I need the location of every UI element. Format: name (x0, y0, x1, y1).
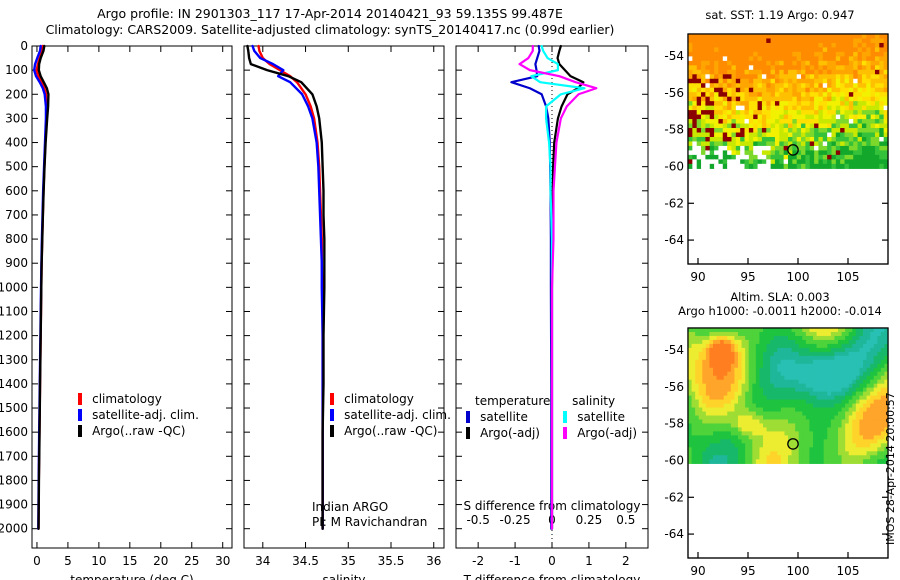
svg-text:0: 0 (33, 554, 41, 568)
svg-text:T difference from climatology: T difference from climatology (463, 573, 641, 580)
legend-item-climatology: climatology (330, 390, 451, 406)
svg-text:-58: -58 (664, 123, 684, 137)
svg-text:1000: 1000 (0, 280, 28, 294)
svg-text:600: 600 (5, 184, 28, 198)
svg-text:95: 95 (740, 564, 755, 578)
svg-text:1900: 1900 (0, 498, 28, 512)
svg-text:-56: -56 (664, 86, 684, 100)
sla-map-title: Altim. SLA: 0.003 Argo h1000: -0.0011 h2… (660, 290, 900, 318)
sla-map[interactable]: -54-56-58-60-62-649095100105 (660, 318, 900, 580)
legend-swatch-climatology (78, 393, 82, 405)
svg-text:1300: 1300 (0, 353, 28, 367)
svg-text:-62: -62 (664, 196, 684, 210)
svg-text:1100: 1100 (0, 304, 28, 318)
svg-text:1500: 1500 (0, 401, 28, 415)
temperature-legend: climatology satellite-adj. clim. Argo(..… (78, 390, 199, 438)
annotation-line2: PI: M Ravichandran (312, 515, 427, 530)
salinity-annotation: Indian ARGO PI: M Ravichandran (312, 500, 427, 530)
svg-text:-60: -60 (664, 159, 684, 173)
svg-text:-2: -2 (472, 554, 484, 568)
sst-map-title: sat. SST: 1.19 Argo: 0.947 (660, 8, 900, 22)
svg-text:1200: 1200 (0, 329, 28, 343)
legend-label-satellite-adj: satellite-adj. clim. (344, 408, 451, 422)
annotation-line1: Indian ARGO (312, 500, 427, 515)
svg-text:-64: -64 (664, 527, 684, 541)
svg-text:-62: -62 (664, 490, 684, 504)
svg-text:5: 5 (64, 554, 72, 568)
svg-text:-60: -60 (664, 453, 684, 467)
svg-text:1400: 1400 (0, 377, 28, 391)
svg-text:100: 100 (5, 63, 28, 77)
svg-text:10: 10 (91, 554, 106, 568)
svg-text:500: 500 (5, 160, 28, 174)
svg-text:-64: -64 (664, 233, 684, 247)
legend-label-satellite-adj: satellite-adj. clim. (92, 408, 199, 422)
svg-text:36: 36 (426, 554, 441, 568)
legend-label-temperature-satellite: satellite (480, 410, 528, 424)
svg-text:20: 20 (153, 554, 168, 568)
svg-text:34: 34 (255, 554, 270, 568)
svg-text:-0.5: -0.5 (466, 513, 489, 527)
legend-swatch-satellite-adj (330, 409, 334, 421)
legend-label-argo-raw: Argo(..raw -QC) (344, 424, 437, 438)
svg-text:90: 90 (690, 564, 705, 578)
svg-text:100: 100 (787, 270, 810, 284)
svg-text:200: 200 (5, 87, 28, 101)
legend-label-climatology: climatology (344, 392, 414, 406)
svg-text:800: 800 (5, 232, 28, 246)
legend-swatch-temperature-satellite (466, 411, 470, 423)
svg-text:15: 15 (122, 554, 137, 568)
legend-swatch-argo-raw (330, 425, 334, 437)
legend-label-temperature-argo: Argo(-adj) (480, 426, 540, 440)
svg-text:0.5: 0.5 (616, 513, 635, 527)
svg-text:300: 300 (5, 111, 28, 125)
svg-text:25: 25 (184, 554, 199, 568)
legend-label-salinity-satellite: satellite (577, 410, 625, 424)
legend-item-argo-raw: Argo(..raw -QC) (330, 422, 451, 438)
svg-text:35: 35 (341, 554, 356, 568)
svg-text:900: 900 (5, 256, 28, 270)
svg-text:0: 0 (20, 39, 28, 53)
svg-text:-1: -1 (509, 554, 521, 568)
svg-text:30: 30 (215, 554, 230, 568)
legend-item-satellite-adj: satellite-adj. clim. (78, 406, 199, 422)
difference-legend: temperature satellite Argo(-adj) salinit… (466, 392, 655, 440)
sla-map-title-line1: Altim. SLA: 0.003 (660, 290, 900, 304)
legend-swatch-salinity-argo (563, 427, 567, 439)
legend-item-satellite-adj: satellite-adj. clim. (330, 406, 451, 422)
legend-item-argo-raw: Argo(..raw -QC) (78, 422, 199, 438)
svg-text:0: 0 (548, 554, 556, 568)
legend-label-climatology: climatology (92, 392, 162, 406)
legend-swatch-argo-raw (78, 425, 82, 437)
svg-text:95: 95 (740, 270, 755, 284)
svg-text:-56: -56 (664, 380, 684, 394)
sla-map-title-line2: Argo h1000: -0.0011 h2000: -0.014 (660, 304, 900, 318)
svg-text:700: 700 (5, 208, 28, 222)
svg-text:1700: 1700 (0, 449, 28, 463)
svg-text:35.5: 35.5 (378, 554, 405, 568)
svg-text:1600: 1600 (0, 425, 28, 439)
salinity-panel[interactable]: 3434.53535.536salinity (240, 34, 456, 580)
svg-text:105: 105 (837, 270, 860, 284)
svg-text:temperature (deg C): temperature (deg C) (70, 573, 193, 580)
legend-swatch-salinity-satellite (563, 411, 567, 423)
svg-text:-0.25: -0.25 (500, 513, 531, 527)
svg-text:-54: -54 (664, 343, 684, 357)
legend-swatch-temperature-argo (466, 427, 470, 439)
svg-text:105: 105 (837, 564, 860, 578)
imos-timestamp: IMOS 28-Apr-2014 20:00:57 (884, 392, 897, 545)
legend-item-salinity-argo: Argo(-adj) (563, 424, 655, 440)
svg-text:2000: 2000 (0, 522, 28, 536)
sst-map[interactable]: -54-56-58-60-62-649095100105 (660, 24, 900, 292)
svg-text:2: 2 (622, 554, 630, 568)
svg-text:90: 90 (690, 270, 705, 284)
legend-swatch-satellite-adj (78, 409, 82, 421)
figure-title-line1: Argo profile: IN 2901303_117 17-Apr-2014… (0, 6, 660, 22)
difference-legend-salinity: salinity satellite Argo(-adj) (563, 392, 655, 440)
svg-text:1800: 1800 (0, 473, 28, 487)
difference-legend-temperature: temperature satellite Argo(-adj) (466, 392, 558, 440)
legend-item-temperature-argo: Argo(-adj) (466, 424, 558, 440)
legend-swatch-climatology (330, 393, 334, 405)
svg-text:-58: -58 (664, 417, 684, 431)
svg-text:1: 1 (585, 554, 593, 568)
svg-text:0.25: 0.25 (576, 513, 603, 527)
svg-text:400: 400 (5, 136, 28, 150)
legend-label-salinity-argo: Argo(-adj) (577, 426, 637, 440)
legend-label-argo-raw: Argo(..raw -QC) (92, 424, 185, 438)
svg-text:100: 100 (787, 564, 810, 578)
salinity-legend: climatology satellite-adj. clim. Argo(..… (330, 390, 451, 438)
temperature-panel[interactable]: 0100200300400500600700800900100011001200… (0, 34, 240, 580)
svg-text:-54: -54 (664, 49, 684, 63)
svg-text:34.5: 34.5 (292, 554, 319, 568)
difference-panel[interactable]: -2-1012-0.5-0.2500.250.5S difference fro… (452, 34, 662, 580)
svg-text:salinity: salinity (322, 573, 365, 580)
legend-item-climatology: climatology (78, 390, 199, 406)
